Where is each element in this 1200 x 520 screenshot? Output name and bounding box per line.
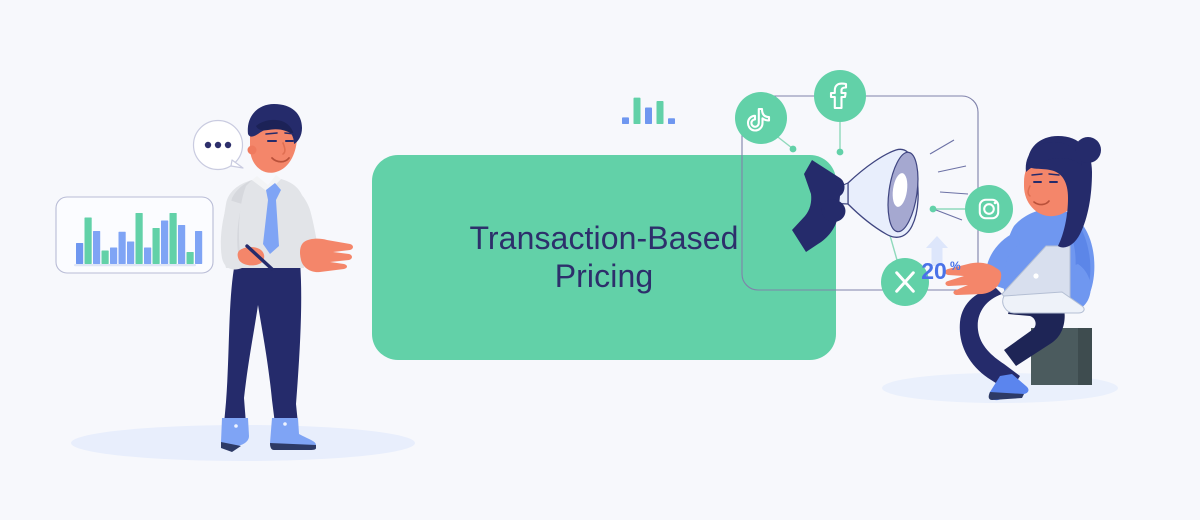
bar-9	[144, 248, 151, 265]
presenter-pointing-hand	[300, 239, 353, 272]
presenter-brow-right	[285, 133, 295, 134]
bar-4	[102, 251, 109, 265]
bar-3	[93, 231, 100, 264]
presenter-brow-left	[266, 133, 277, 134]
bar-5	[110, 248, 117, 265]
bar-8	[136, 213, 143, 264]
bar-12	[170, 213, 177, 264]
bar-13	[178, 225, 185, 264]
presenter-character	[221, 104, 353, 452]
bar-14	[187, 252, 194, 264]
bar-undefined	[195, 231, 202, 264]
bar-6	[119, 232, 126, 264]
speech-bubble-dots	[205, 142, 231, 148]
speech-bubble	[194, 121, 244, 170]
bar-10	[153, 228, 160, 264]
bar-7	[127, 242, 134, 265]
presenter-trousers	[224, 262, 301, 424]
illustration-banner: Transaction-Based Pricing	[0, 0, 1200, 520]
page-title: Transaction-Based Pricing	[445, 220, 762, 296]
presenter-ear	[248, 146, 257, 155]
bar-1	[76, 243, 83, 264]
bar-11	[161, 221, 168, 265]
bar-2	[85, 218, 92, 265]
hero-card: Transaction-Based Pricing	[372, 155, 836, 360]
